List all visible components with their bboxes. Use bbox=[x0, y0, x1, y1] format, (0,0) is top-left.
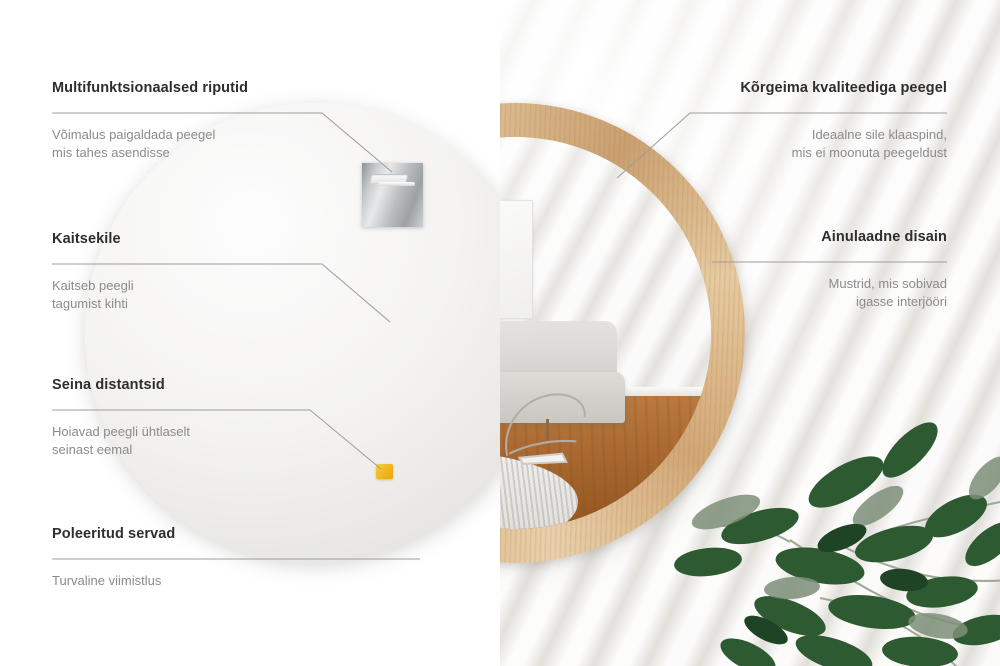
callout-description: Hoiavad peegli ühtlaselt seinast eemal bbox=[52, 423, 190, 458]
callout-title: Seina distantsid bbox=[52, 377, 190, 393]
callout-protective-film: Kaitsekile Kaitseb peegli tagumist kihti bbox=[52, 231, 134, 312]
callout-polished-edges: Poleeritud servad Turvaline viimistlus bbox=[52, 526, 175, 590]
callout-title: Poleeritud servad bbox=[52, 526, 175, 542]
mirror-back-disc bbox=[85, 103, 500, 563]
callout-description: Võimalus paigaldada peegel mis tahes ase… bbox=[52, 126, 248, 161]
callout-title: Kõrgeima kvaliteediga peegel bbox=[740, 80, 947, 96]
infographic-canvas: Multifunktsionaalsed riputid Võimalus pa… bbox=[0, 0, 1000, 666]
callout-title: Multifunktsionaalsed riputid bbox=[52, 80, 248, 96]
callout-description: Turvaline viimistlus bbox=[52, 572, 175, 590]
hanger-slot-shadow bbox=[379, 182, 415, 186]
callout-unique-design: Ainulaadne disain Mustrid, mis sobivad i… bbox=[821, 229, 947, 310]
callout-description: Mustrid, mis sobivad igasse interjööri bbox=[821, 275, 947, 310]
callout-top-quality-mirror: Kõrgeima kvaliteediga peegel Ideaalne si… bbox=[740, 80, 947, 161]
foliage-branches bbox=[500, 330, 1000, 666]
wall-spacer-marker bbox=[376, 464, 393, 479]
callout-title: Kaitsekile bbox=[52, 231, 134, 247]
callout-wall-spacers: Seina distantsid Hoiavad peegli ühtlasel… bbox=[52, 377, 190, 458]
callout-multifunctional-hangers: Multifunktsionaalsed riputid Võimalus pa… bbox=[52, 80, 248, 161]
callout-title: Ainulaadne disain bbox=[821, 229, 947, 245]
reflected-poster bbox=[500, 200, 533, 320]
callout-description: Kaitseb peegli tagumist kihti bbox=[52, 277, 134, 312]
callout-description: Ideaalne sile klaaspind, mis ei moonuta … bbox=[740, 126, 947, 161]
hanger-plate-icon bbox=[362, 163, 423, 227]
disc-edge-shading bbox=[85, 103, 500, 563]
